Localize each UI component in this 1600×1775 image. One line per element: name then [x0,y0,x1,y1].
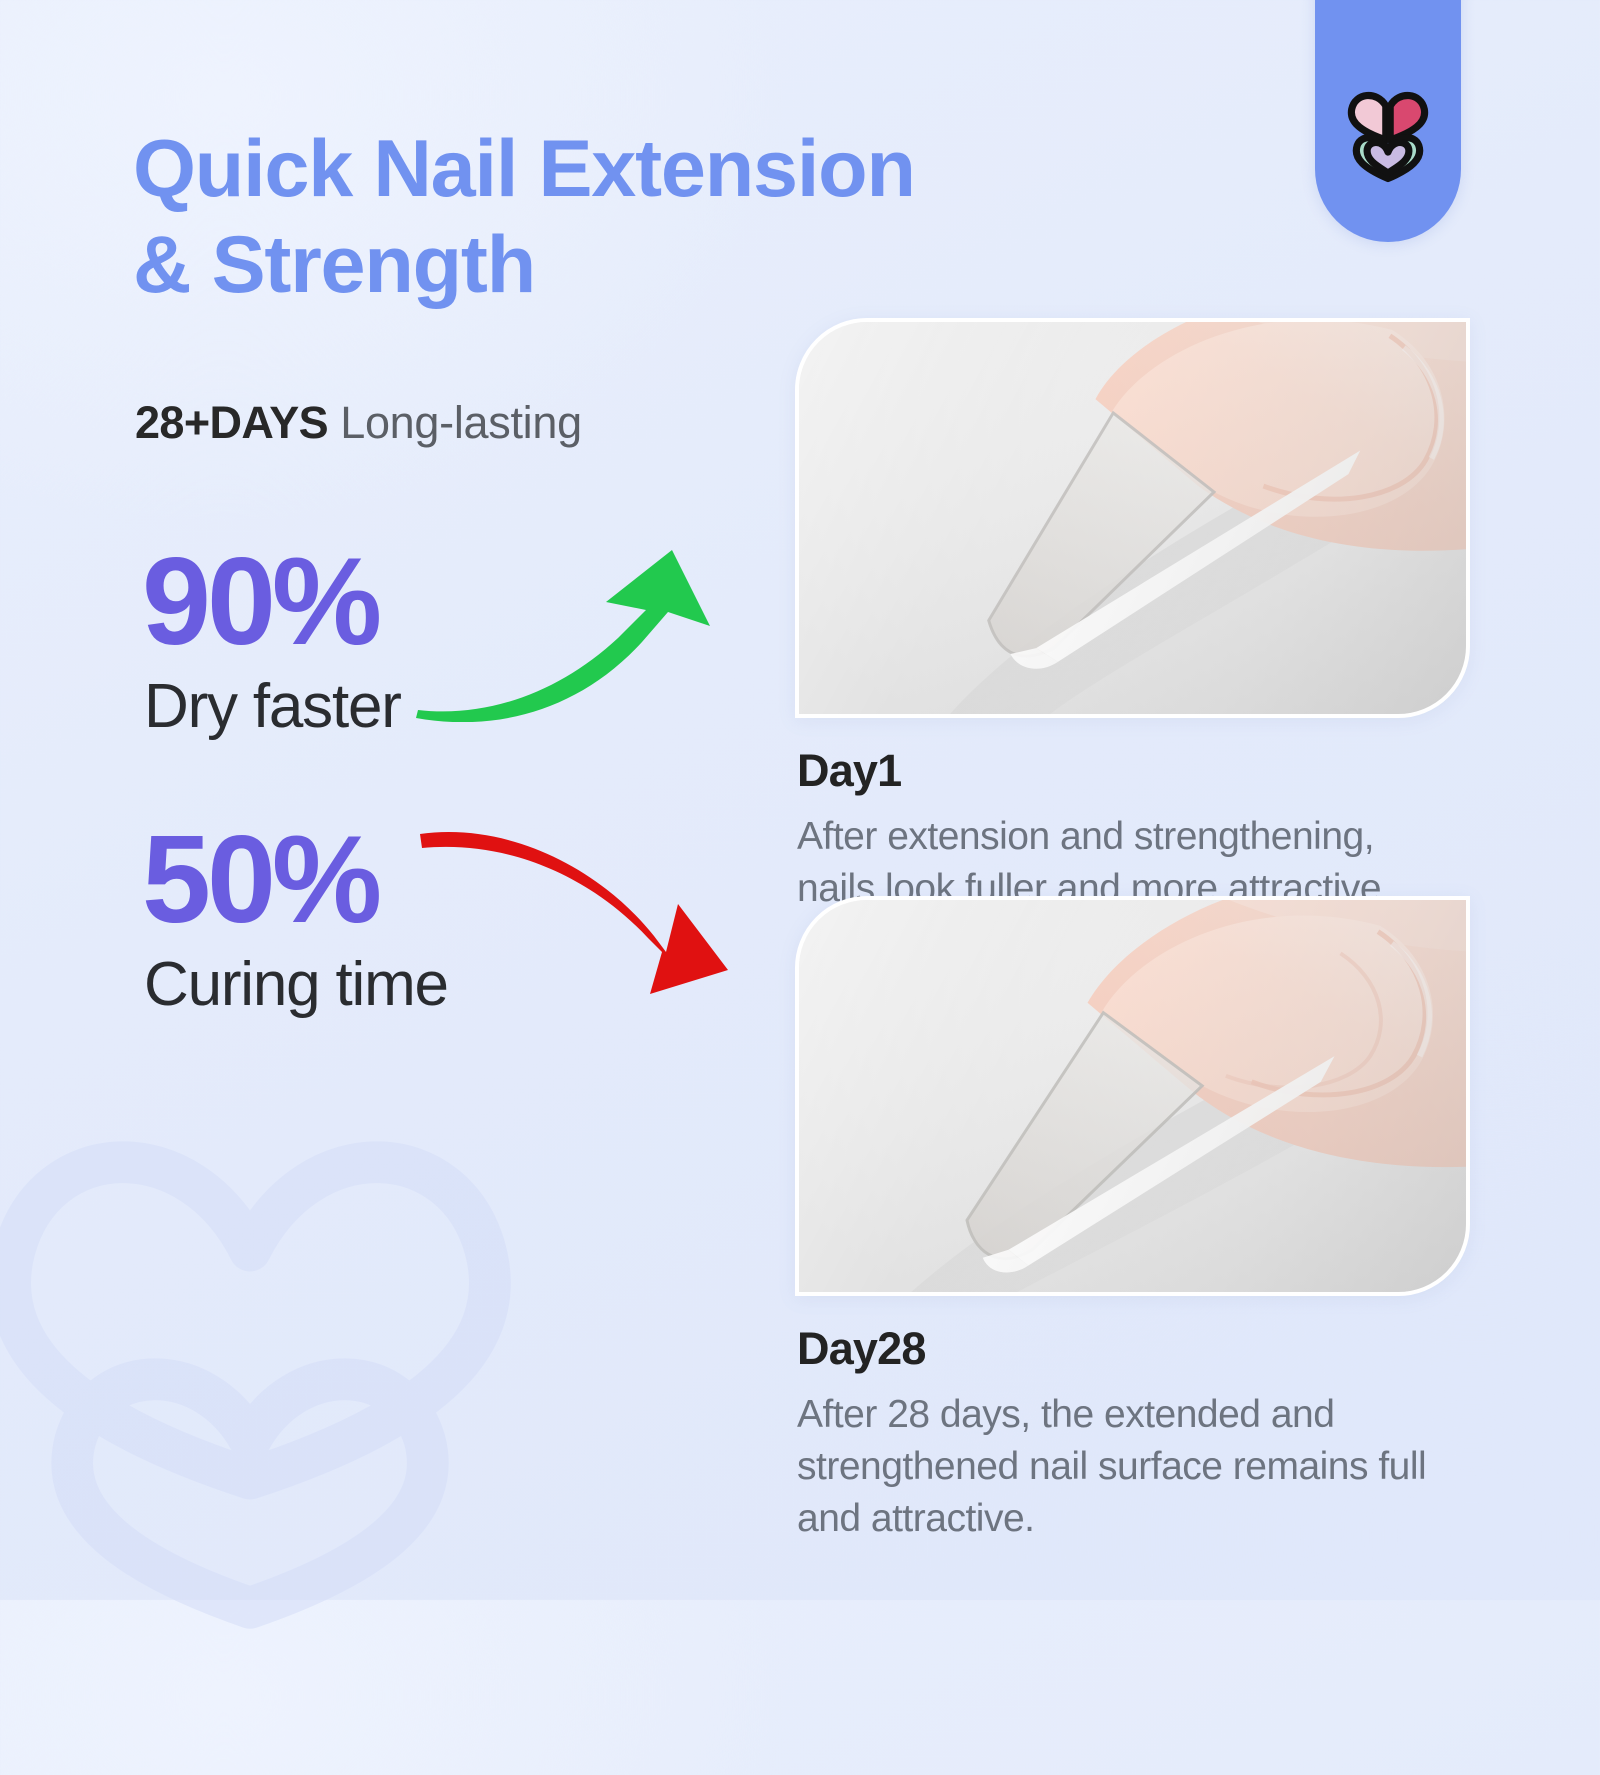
stat-block-curing-time: 50% Curing time [130,818,750,1078]
subtitle-days: 28+DAYS [135,397,328,448]
page-title: Quick Nail Extension & Strength [133,122,1313,313]
caption-title: Day1 [797,748,1475,793]
stat-label: Curing time [144,954,448,1016]
arrow-down-trend-icon [410,818,740,998]
stat-label: Dry faster [144,676,401,738]
stat-percent: 90% [142,540,378,664]
comparison-card-day28: Day28 After 28 days, the extended and st… [795,896,1475,1545]
nail-closeup-day28-photo [795,896,1470,1296]
comparison-card-day1: Day1 After extension and strengthening, … [795,318,1475,915]
caption-body: After 28 days, the extended and strength… [797,1389,1447,1545]
arrow-up-trend-icon [410,542,740,722]
brand-badge [1315,0,1461,242]
stat-percent: 50% [142,818,378,942]
subtitle-longlasting: Long-lasting [328,397,582,448]
nail-closeup-day1-photo [795,318,1470,718]
flower-hearts-watermark [0,1015,630,1775]
caption-title: Day28 [797,1326,1475,1371]
flower-hearts-logo-icon [1333,74,1443,184]
stat-block-dry-faster: 90% Dry faster [130,540,750,800]
subtitle: 28+DAYS Long-lasting [135,400,582,445]
